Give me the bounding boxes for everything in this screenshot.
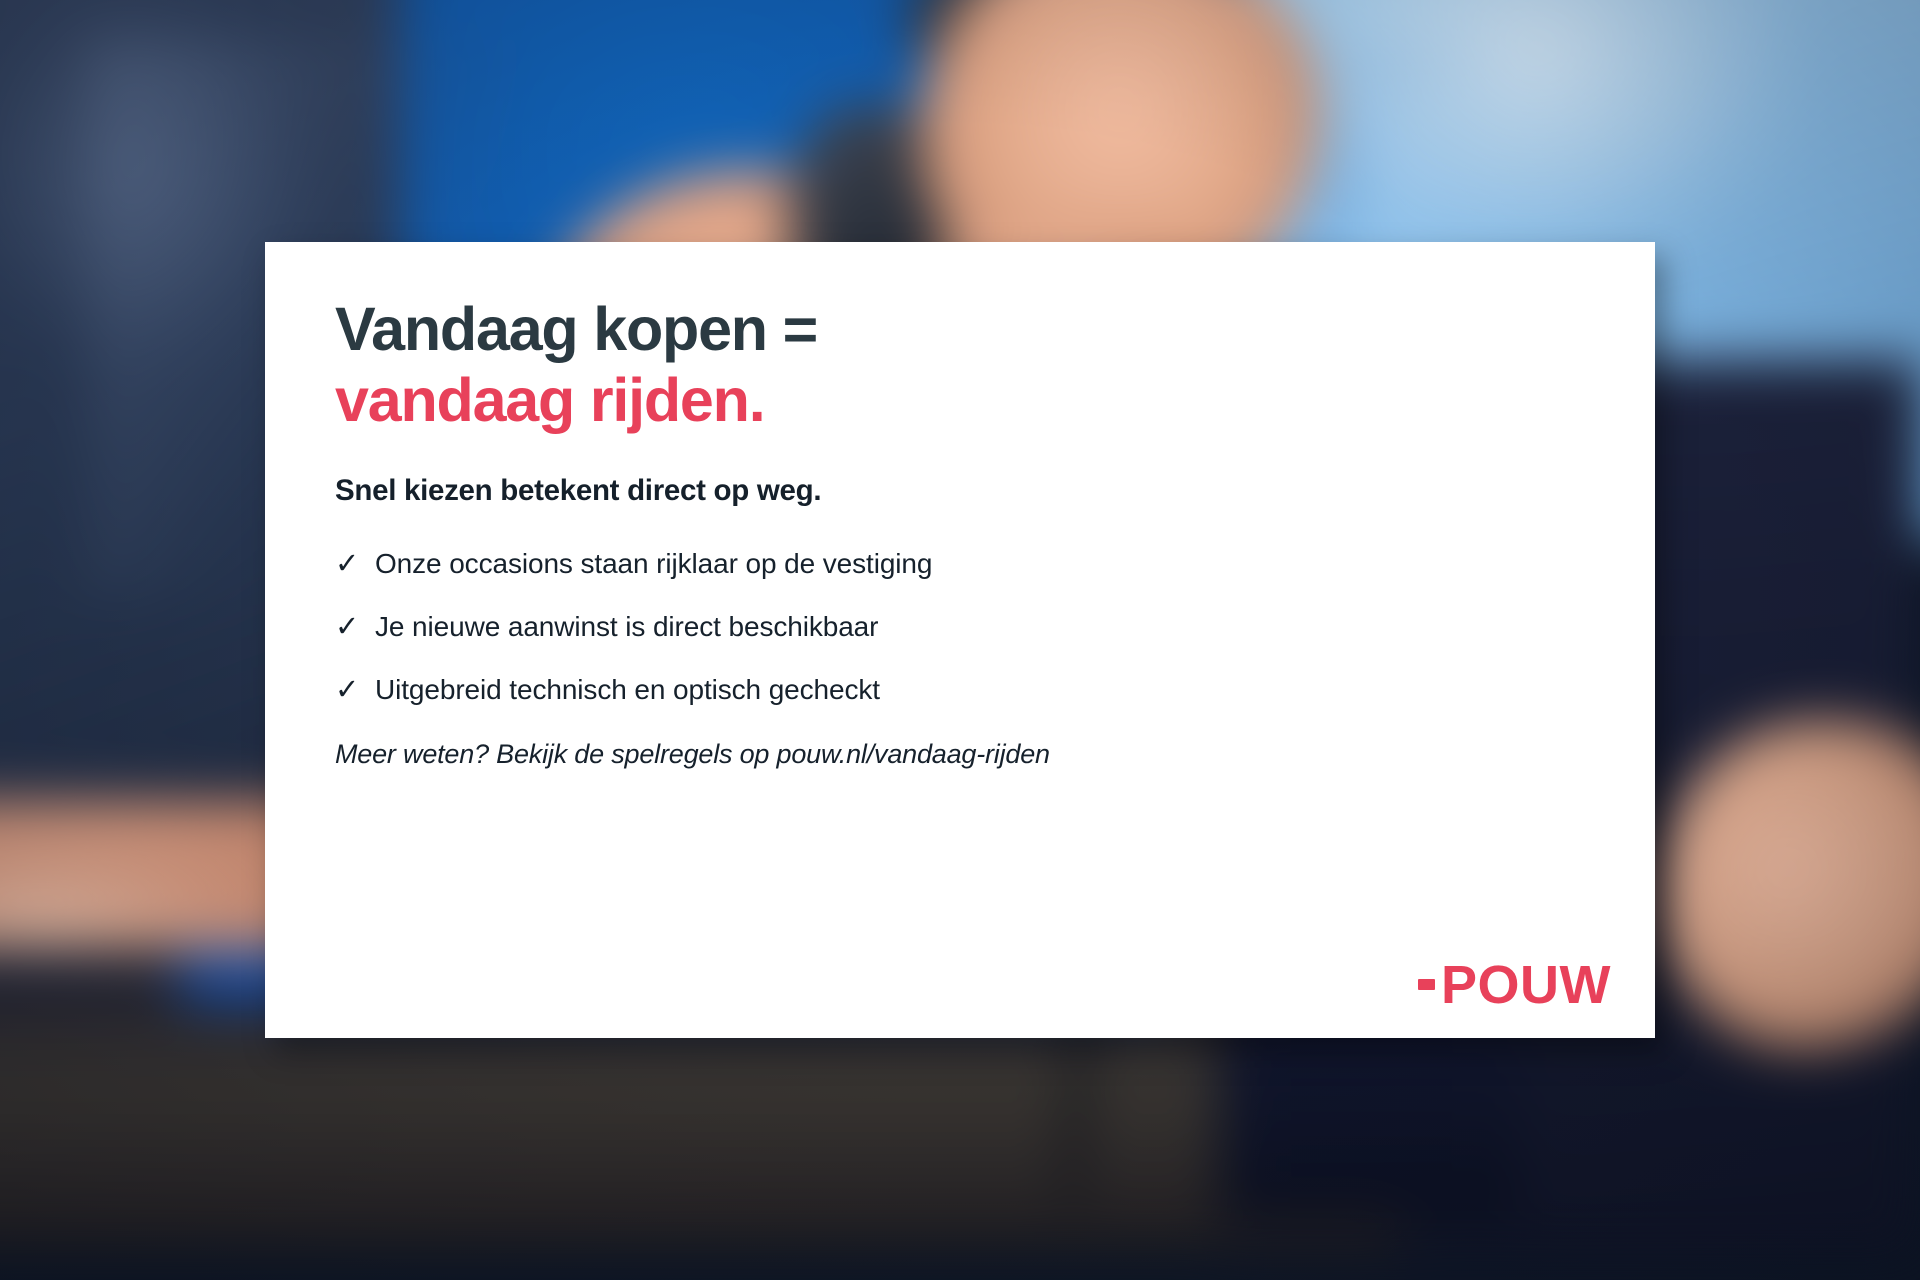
page-title: Vandaag kopen = vandaag rijden. (335, 294, 1601, 436)
check-icon: ✓ (335, 676, 375, 705)
list-item-label: Onze occasions staan rijklaar op de vest… (375, 550, 1601, 578)
logo-dash-icon (1418, 979, 1435, 990)
check-icon: ✓ (335, 550, 375, 579)
list-item: ✓ Onze occasions staan rijklaar op de ve… (335, 550, 1601, 579)
check-icon: ✓ (335, 613, 375, 642)
footnote-link-text[interactable]: Meer weten? Bekijk de spelregels op pouw… (335, 739, 1601, 770)
headline-line-1: Vandaag kopen = (335, 294, 1601, 365)
list-item-label: Je nieuwe aanwinst is direct beschikbaar (375, 613, 1601, 641)
pouw-logo: POUW (1418, 958, 1611, 1012)
promo-card-content: Vandaag kopen = vandaag rijden. Snel kie… (335, 294, 1601, 1008)
headline-line-2: vandaag rijden. (335, 365, 1601, 436)
list-item: ✓ Je nieuwe aanwinst is direct beschikba… (335, 613, 1601, 642)
poster-stage: Vandaag kopen = vandaag rijden. Snel kie… (0, 0, 1920, 1280)
logo-wordmark: POUW (1441, 958, 1611, 1012)
subheading: Snel kiezen betekent direct op weg. (335, 474, 1601, 508)
benefits-list: ✓ Onze occasions staan rijklaar op de ve… (335, 550, 1601, 705)
promo-card: Vandaag kopen = vandaag rijden. Snel kie… (265, 242, 1655, 1038)
list-item: ✓ Uitgebreid technisch en optisch gechec… (335, 676, 1601, 705)
list-item-label: Uitgebreid technisch en optisch gecheckt (375, 676, 1601, 704)
